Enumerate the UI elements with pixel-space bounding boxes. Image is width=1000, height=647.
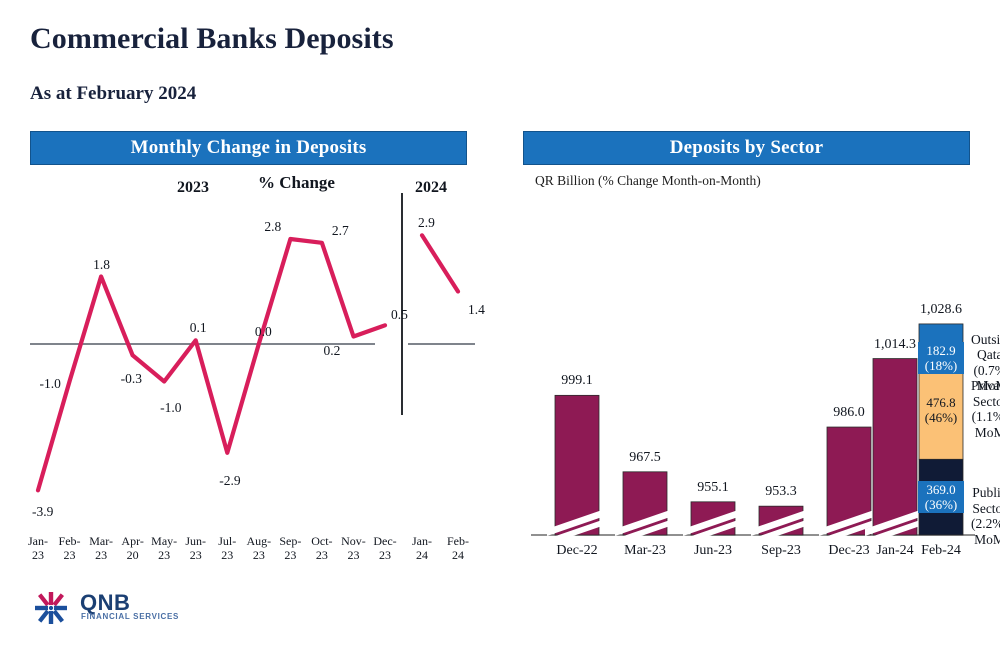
line-value-label: 2.7 — [332, 223, 349, 239]
line-value-label: -2.9 — [219, 473, 240, 489]
line-chart-x-label: Jan-24 — [405, 535, 439, 562]
bar-chart-x-label: Sep-23 — [745, 543, 817, 559]
qnb-logo-tagline: FINANCIAL SERVICES — [81, 612, 179, 621]
stack-segment-value: 369.0(36%) — [918, 481, 964, 513]
bar-chart-x-label: Feb-24 — [905, 543, 977, 559]
bar-chart-x-label: Dec-22 — [541, 543, 613, 559]
bar-value-label: 986.0 — [813, 405, 885, 421]
bar-value-label: 953.3 — [745, 484, 817, 500]
line-value-label: 1.8 — [93, 257, 110, 273]
line-value-label: -3.9 — [32, 504, 53, 520]
right-panel-header: Deposits by Sector — [523, 131, 970, 165]
line-value-label: 2.9 — [418, 215, 435, 231]
page-subtitle: As at February 2024 — [30, 83, 196, 105]
stack-segment-legend: PublicSector(2.2%)MoM — [971, 485, 1000, 547]
line-value-label: 0.0 — [255, 324, 272, 340]
monthly-change-line-chart: 2023 2024 % Change -3.9-1.01.8-0.3-1.00.… — [30, 165, 475, 580]
stack-segment-value: 182.9(18%) — [918, 342, 964, 374]
stack-segment-legend: OutsideQatar(0.7%)MoM — [971, 332, 1000, 394]
line-chart-x-label: Jun-23 — [179, 535, 213, 562]
bar-chart-x-label: Mar-23 — [609, 543, 681, 559]
line-chart-x-label: Mar-23 — [84, 535, 118, 562]
line-chart-x-label: Oct-23 — [305, 535, 339, 562]
bar-value-label: 955.1 — [677, 480, 749, 496]
line-chart-x-label: Feb-24 — [441, 535, 475, 562]
line-value-label: 2.8 — [264, 219, 281, 235]
bar-value-label: 1,028.6 — [905, 302, 977, 318]
bar-value-label: 967.5 — [609, 450, 681, 466]
line-chart-x-label: Apr-20 — [116, 535, 150, 562]
left-panel-header-label: Monthly Change in Deposits — [131, 137, 367, 159]
stack-segment-value: 476.8(46%) — [918, 394, 964, 426]
bar-chart-x-label: Jun-23 — [677, 543, 749, 559]
line-chart-x-label: Dec-23 — [368, 535, 402, 562]
slide-root: Commercial Banks Deposits As at February… — [0, 0, 1000, 647]
line-value-label: -0.3 — [121, 371, 142, 387]
line-value-label: -1.0 — [160, 400, 181, 416]
line-value-label: 0.2 — [323, 343, 340, 359]
line-chart-x-label: May-23 — [147, 535, 181, 562]
line-chart-x-label: Jul-23 — [210, 535, 244, 562]
page-title: Commercial Banks Deposits — [30, 22, 394, 56]
line-value-label: -1.0 — [40, 376, 61, 392]
line-chart-x-label: Jan-23 — [21, 535, 55, 562]
line-chart-x-label: Sep-23 — [273, 535, 307, 562]
line-value-label: 0.1 — [190, 320, 207, 336]
left-panel-header: Monthly Change in Deposits — [30, 131, 467, 165]
right-panel-header-label: Deposits by Sector — [670, 137, 823, 159]
deposits-by-sector-bar-chart: 999.1Dec-22967.5Mar-23955.1Jun-23953.3Se… — [523, 190, 983, 580]
line-value-label: 0.5 — [391, 307, 408, 323]
line-value-label: 1.4 — [468, 302, 485, 318]
qnb-starburst-icon — [28, 590, 74, 626]
qnb-logo: QNB FINANCIAL SERVICES — [28, 590, 208, 630]
line-chart-x-label: Nov-23 — [336, 535, 370, 562]
right-chart-axis-note: QR Billion (% Change Month-on-Month) — [535, 173, 761, 189]
bar-value-label: 999.1 — [541, 373, 613, 389]
line-chart-x-label: Feb-23 — [53, 535, 87, 562]
line-chart-canvas — [30, 165, 475, 580]
line-chart-x-label: Aug-23 — [242, 535, 276, 562]
